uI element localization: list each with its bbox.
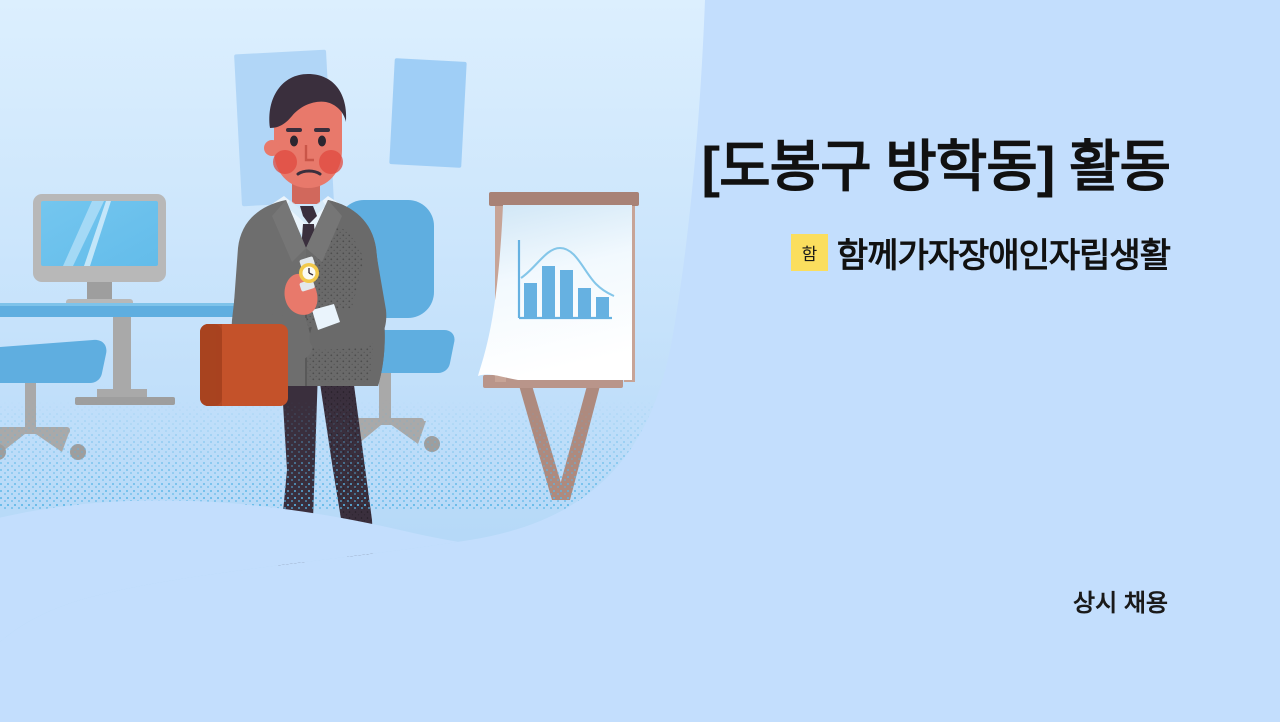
illustration-panel — [0, 0, 760, 722]
job-posting-card: [도봉구 방학동] 활동 함 함께가자장애인자립생활 상시 채용 — [0, 0, 1280, 722]
page-title: [도봉구 방학동] 활동 — [550, 138, 1170, 197]
floor-foreground — [0, 500, 760, 722]
eye-left — [290, 136, 298, 147]
status-badge: 상시 채용 — [1073, 583, 1168, 618]
company-row[interactable]: 함 함께가자장애인자립생활 — [791, 228, 1170, 277]
eyebrow-left — [286, 128, 302, 132]
briefcase — [200, 324, 288, 406]
company-logo-badge: 함 — [791, 234, 828, 271]
cheek-left — [273, 150, 297, 174]
company-name[interactable]: 함께가자장애인자립생활 — [837, 228, 1170, 277]
eyebrow-right — [314, 128, 330, 132]
cheek-right — [319, 150, 343, 174]
eye-right — [318, 136, 326, 147]
wall-poster-small — [389, 58, 466, 168]
office-illustration — [0, 0, 760, 722]
scene-clip-group — [0, 0, 760, 722]
shoe-left — [265, 586, 306, 608]
floor-speckles — [0, 400, 760, 510]
shoe-right — [345, 586, 402, 608]
